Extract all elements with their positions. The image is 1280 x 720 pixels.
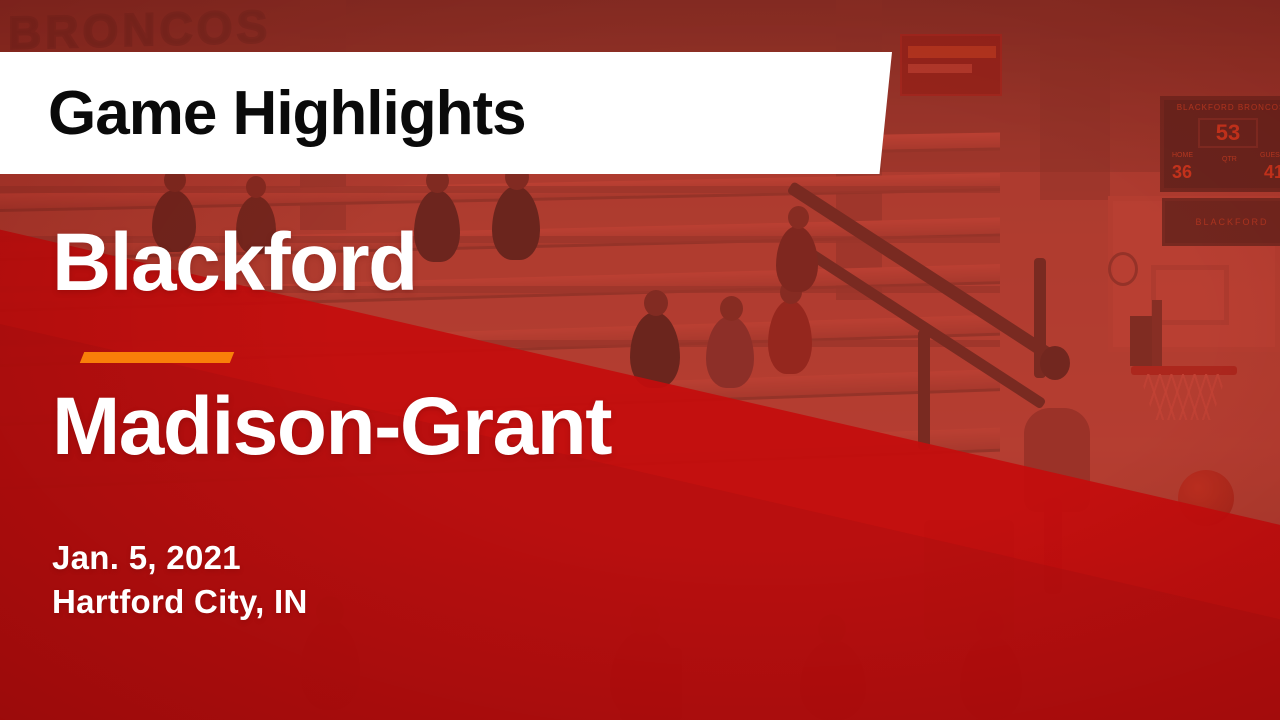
away-team-name: Madison-Grant: [52, 386, 611, 468]
team-divider-accent: [80, 352, 234, 363]
game-location: Hartford City, IN: [52, 580, 308, 624]
home-team-name: Blackford: [52, 222, 417, 304]
game-meta: Jan. 5, 2021 Hartford City, IN: [52, 536, 308, 623]
game-highlights-graphic: BRONCOS: [0, 0, 1280, 720]
matchup-content: Blackford Madison-Grant Jan. 5, 2021 Har…: [0, 0, 1280, 720]
game-date: Jan. 5, 2021: [52, 536, 308, 580]
